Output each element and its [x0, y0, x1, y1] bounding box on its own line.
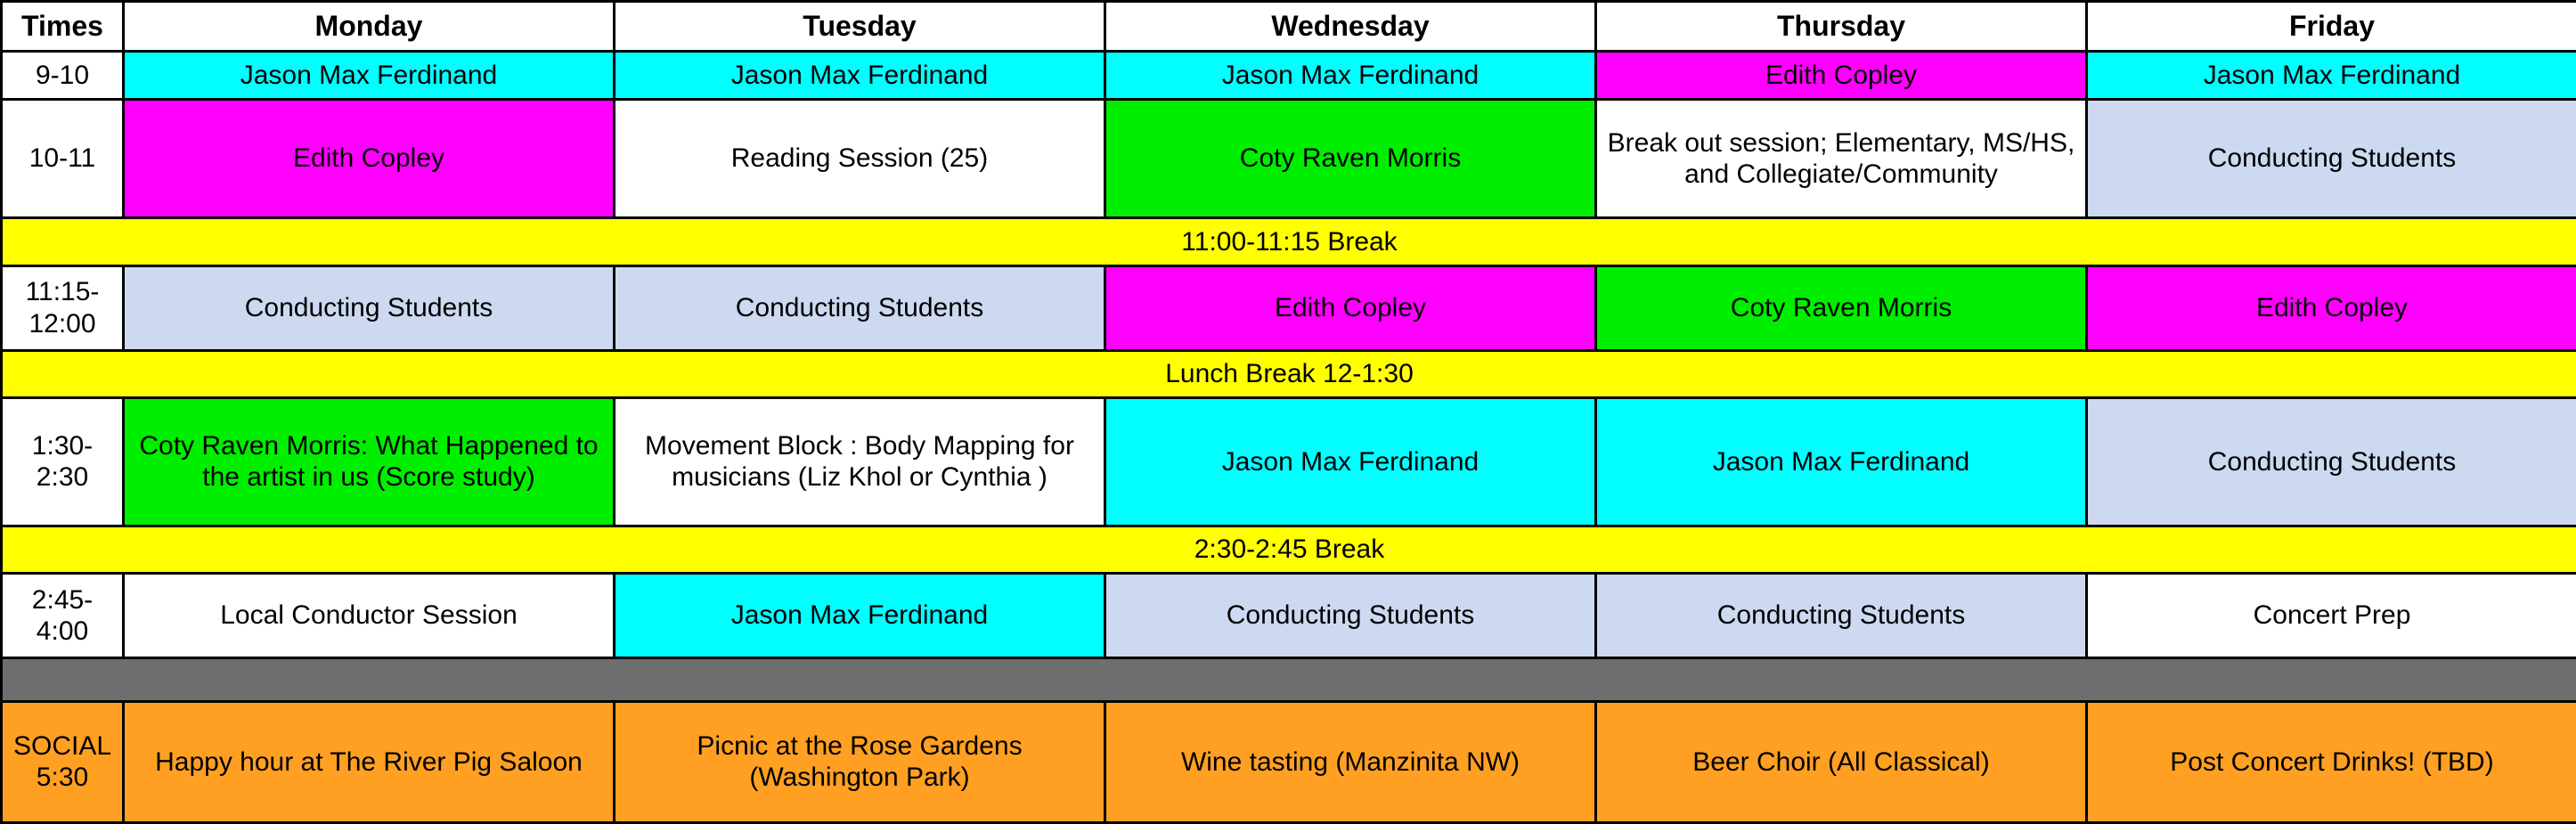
- header-wednesday: Wednesday: [1105, 2, 1596, 52]
- session-cell-tue-1115: Conducting Students: [615, 265, 1105, 350]
- header-friday: Friday: [2087, 2, 2576, 52]
- header-thursday: Thursday: [1596, 2, 2087, 52]
- break-row-afternoon: 2:30-2:45 Break: [2, 526, 2576, 574]
- header-times: Times: [2, 2, 124, 52]
- break-row-lunch: Lunch Break 12-1:30: [2, 350, 2576, 398]
- session-cell-wed-130: Jason Max Ferdinand: [1105, 398, 1596, 526]
- session-cell-wed-245: Conducting Students: [1105, 574, 1596, 658]
- session-cell-tue-10: Reading Session (25): [615, 99, 1105, 218]
- session-cell-fri-10: Conducting Students: [2087, 99, 2576, 218]
- session-cell-mon-9: Jason Max Ferdinand: [124, 51, 615, 99]
- session-cell-tue-130: Movement Block : Body Mapping for musici…: [615, 398, 1105, 526]
- afternoon-break-label: 2:30-2:45 Break: [2, 526, 2576, 574]
- session-cell-wed-9: Jason Max Ferdinand: [1105, 51, 1596, 99]
- social-cell-wednesday: Wine tasting (Manzinita NW): [1105, 701, 1596, 822]
- time-label-130-230: 1:30-2:30: [2, 398, 124, 526]
- session-cell-fri-130: Conducting Students: [2087, 398, 2576, 526]
- session-cell-thu-130: Jason Max Ferdinand: [1596, 398, 2087, 526]
- session-cell-mon-1115: Conducting Students: [124, 265, 615, 350]
- session-cell-wed-1115: Edith Copley: [1105, 265, 1596, 350]
- table-row: 2:45-4:00 Local Conductor Session Jason …: [2, 574, 2576, 658]
- session-cell-fri-245: Concert Prep: [2087, 574, 2576, 658]
- time-label-10-11: 10-11: [2, 99, 124, 218]
- session-cell-thu-9: Edith Copley: [1596, 51, 2087, 99]
- session-cell-fri-1115: Edith Copley: [2087, 265, 2576, 350]
- table-header-row: Times Monday Tuesday Wednesday Thursday …: [2, 2, 2576, 52]
- session-cell-thu-245: Conducting Students: [1596, 574, 2087, 658]
- session-cell-wed-10: Coty Raven Morris: [1105, 99, 1596, 218]
- social-label: SOCIAL 5:30: [2, 701, 124, 822]
- time-label-9-10: 9-10: [2, 51, 124, 99]
- social-cell-tuesday: Picnic at the Rose Gardens (Washington P…: [615, 701, 1105, 822]
- table-row: 11:15-12:00 Conducting Students Conducti…: [2, 265, 2576, 350]
- table-row: 9-10 Jason Max Ferdinand Jason Max Ferdi…: [2, 51, 2576, 99]
- session-cell-fri-9: Jason Max Ferdinand: [2087, 51, 2576, 99]
- session-cell-thu-10: Break out session; Elementary, MS/HS, an…: [1596, 99, 2087, 218]
- social-cell-thursday: Beer Choir (All Classical): [1596, 701, 2087, 822]
- session-cell-tue-9: Jason Max Ferdinand: [615, 51, 1105, 99]
- table-row: 10-11 Edith Copley Reading Session (25) …: [2, 99, 2576, 218]
- gray-divider: [2, 657, 2576, 701]
- session-cell-mon-130: Coty Raven Morris: What Happened to the …: [124, 398, 615, 526]
- weekly-schedule-table: Times Monday Tuesday Wednesday Thursday …: [0, 0, 2576, 824]
- social-cell-friday: Post Concert Drinks! (TBD): [2087, 701, 2576, 822]
- session-cell-mon-245: Local Conductor Session: [124, 574, 615, 658]
- session-cell-mon-10: Edith Copley: [124, 99, 615, 218]
- section-divider-row: [2, 657, 2576, 701]
- header-monday: Monday: [124, 2, 615, 52]
- session-cell-tue-245: Jason Max Ferdinand: [615, 574, 1105, 658]
- social-cell-monday: Happy hour at The River Pig Saloon: [124, 701, 615, 822]
- lunch-break-label: Lunch Break 12-1:30: [2, 350, 2576, 398]
- break-row-morning: 11:00-11:15 Break: [2, 218, 2576, 266]
- time-label-11-15: 11:15-12:00: [2, 265, 124, 350]
- social-row: SOCIAL 5:30 Happy hour at The River Pig …: [2, 701, 2576, 822]
- header-tuesday: Tuesday: [615, 2, 1105, 52]
- session-cell-thu-1115: Coty Raven Morris: [1596, 265, 2087, 350]
- morning-break-label: 11:00-11:15 Break: [2, 218, 2576, 266]
- table-row: 1:30-2:30 Coty Raven Morris: What Happen…: [2, 398, 2576, 526]
- time-label-245-400: 2:45-4:00: [2, 574, 124, 658]
